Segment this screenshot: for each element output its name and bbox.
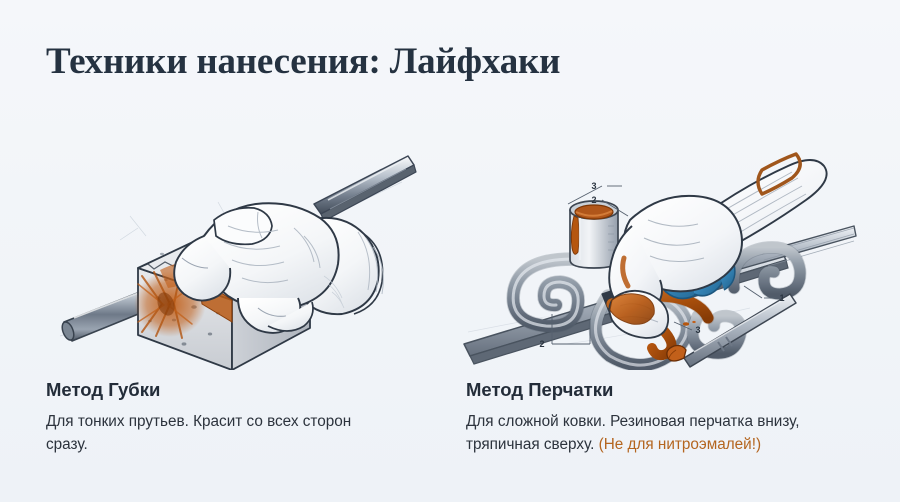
caption-body-sponge: Для тонких прутьев. Красит со всех сторо… xyxy=(46,411,386,456)
caption-title-glove: Метод Перчатки xyxy=(466,378,851,402)
slide-root: Техники нанесения: Лайфхаки xyxy=(0,0,900,502)
illustration-glove-method: 3 2 1 2 3 xyxy=(462,108,857,370)
callout-label-2-bottom: 2 xyxy=(539,339,544,349)
callout-label-2-top: 2 xyxy=(591,195,596,205)
caption-sponge-method: Метод Губки Для тонких прутьев. Красит с… xyxy=(46,378,431,456)
caption-glove-method: Метод Перчатки Для сложной ковки. Резино… xyxy=(466,378,851,456)
caption-warning-glove: (Не для нитроэмалей!) xyxy=(599,436,761,453)
panel-glove-method: 3 2 1 2 3 xyxy=(462,108,857,370)
caption-body-glove: Для сложной ковки. Резиновая перчатка вн… xyxy=(466,411,851,456)
callout-label-3-bottom: 3 xyxy=(695,325,700,335)
metal-rod-upper xyxy=(314,156,416,221)
paint-can xyxy=(570,201,618,268)
panel-sponge-method: Метод Губки Для тонких прутьев. Красит с… xyxy=(42,108,437,370)
illustration-sponge-method xyxy=(42,108,437,370)
page-title: Техники нанесения: Лайфхаки xyxy=(46,40,560,84)
caption-title-sponge: Метод Губки xyxy=(46,378,431,402)
callout-label-1-right: 1 xyxy=(779,293,784,303)
callout-label-3-top: 3 xyxy=(591,181,596,191)
